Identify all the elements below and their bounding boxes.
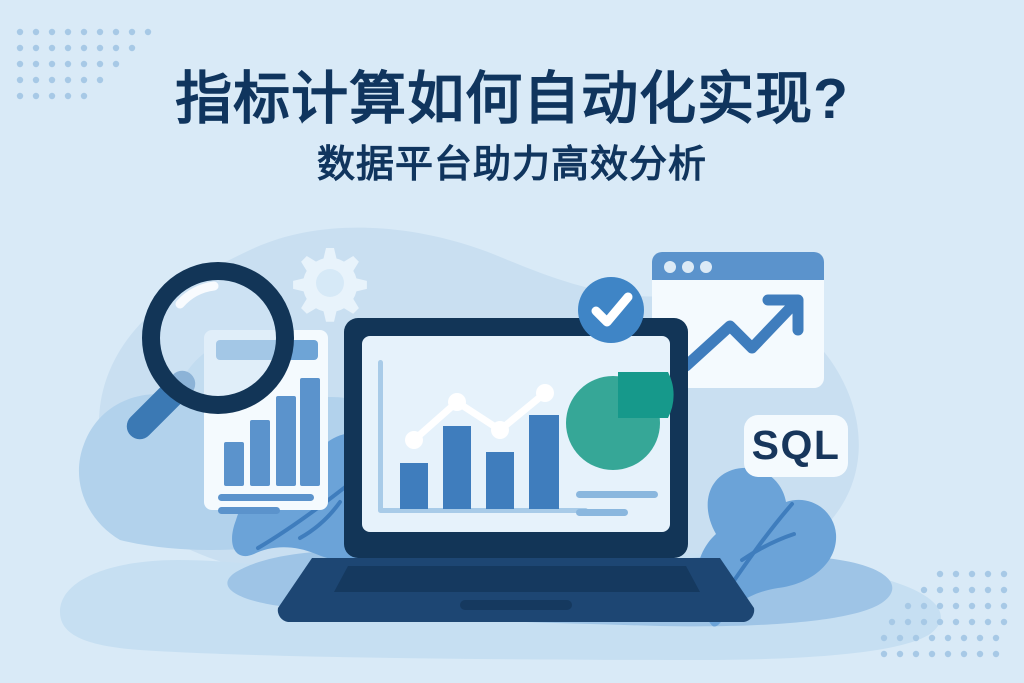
screen-line-point-1: [405, 431, 423, 449]
laptop-trackpad: [460, 600, 572, 610]
screen-bar-1: [400, 463, 428, 509]
report-bar-4: [300, 378, 320, 486]
chart-y-axis: [378, 360, 383, 512]
report-text-line-2: [218, 507, 280, 514]
sql-badge: SQL: [744, 415, 848, 477]
screen-line-point-2: [448, 393, 466, 411]
gear-icon: [293, 248, 367, 322]
laptop-keyboard: [334, 566, 700, 592]
laptop: [278, 318, 754, 622]
report-bar-2: [250, 420, 270, 486]
screen-bar-2: [443, 426, 471, 509]
browser-titlebar: [652, 252, 824, 280]
screen-bar-3: [486, 452, 514, 509]
browser-dot-3[interactable]: [700, 261, 712, 273]
illustration-canvas: 指标计算如何自动化实现? 数据平台助力高效分析: [0, 0, 1024, 683]
screen-text-line-1: [576, 491, 658, 498]
illustration-layer: SQL: [0, 0, 1024, 683]
check-circle-icon: [578, 277, 644, 343]
browser-dot-1[interactable]: [664, 261, 676, 273]
screen-text-line-2: [576, 509, 628, 516]
report-text-line-1: [218, 494, 314, 501]
screen-bar-4: [529, 415, 559, 509]
pie-detached-slice: [618, 372, 674, 418]
report-bar-1: [224, 442, 244, 486]
browser-dot-2[interactable]: [682, 261, 694, 273]
check-circle-bg: [578, 277, 644, 343]
report-bar-3: [276, 396, 296, 486]
screen-line-point-4: [536, 384, 554, 402]
screen-line-point-3: [491, 421, 509, 439]
sql-badge-label: SQL: [752, 422, 841, 468]
